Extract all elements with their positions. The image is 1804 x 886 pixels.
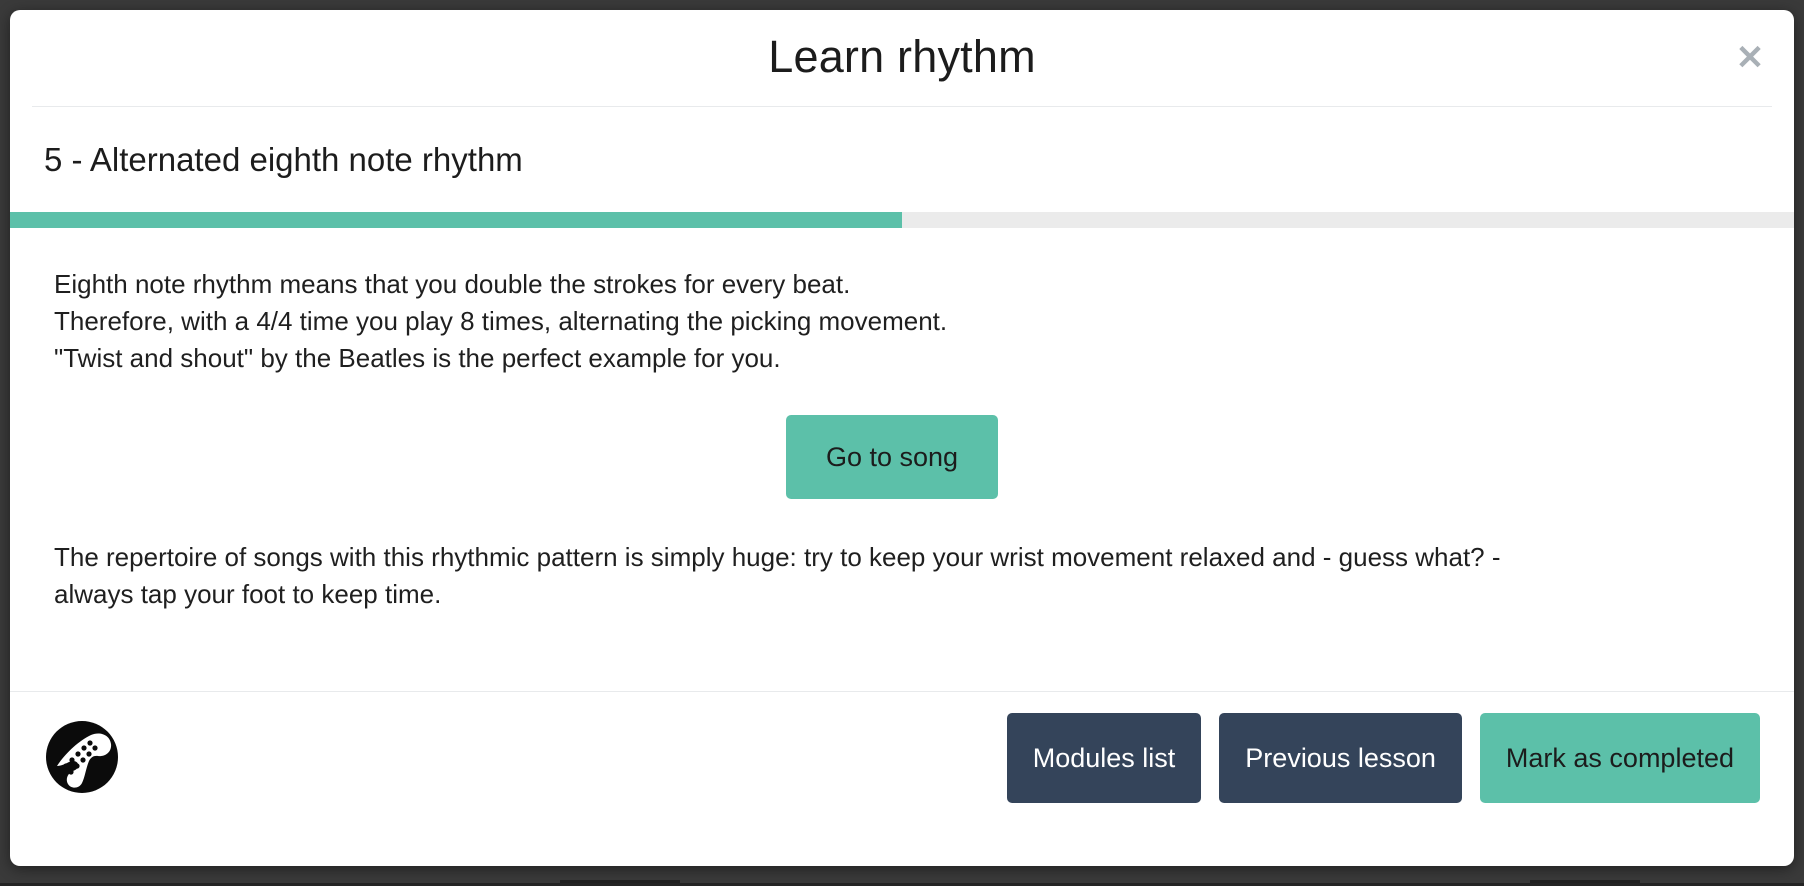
previous-lesson-button[interactable]: Previous lesson <box>1219 713 1462 803</box>
lesson-intro-line-3: "Twist and shout" by the Beatles is the … <box>54 340 1750 377</box>
lesson-outro-line-2: always tap your foot to keep time. <box>54 576 1750 613</box>
footer-actions: Modules list Previous lesson Mark as com… <box>1007 713 1760 803</box>
lesson-outro-text: The repertoire of songs with this rhythm… <box>54 539 1750 613</box>
close-icon[interactable]: ✕ <box>1728 36 1772 80</box>
modal-header: Learn rhythm ✕ <box>10 10 1794 106</box>
lesson-outro-line-1: The repertoire of songs with this rhythm… <box>54 539 1750 576</box>
lesson-title: 5 - Alternated eighth note rhythm <box>44 141 1760 179</box>
lesson-header: 5 - Alternated eighth note rhythm <box>10 107 1794 228</box>
guitar-headstock-logo-icon <box>44 719 120 795</box>
go-to-song-row: Go to song <box>54 415 1750 499</box>
lesson-intro-line-1: Eighth note rhythm means that you double… <box>54 266 1750 303</box>
lesson-intro-text: Eighth note rhythm means that you double… <box>54 266 1750 377</box>
lesson-body: Eighth note rhythm means that you double… <box>10 228 1794 613</box>
lesson-progress-fill <box>10 212 902 228</box>
lesson-modal: Learn rhythm ✕ 5 - Alternated eighth not… <box>10 10 1794 866</box>
lesson-intro-line-2: Therefore, with a 4/4 time you play 8 ti… <box>54 303 1750 340</box>
modules-list-button[interactable]: Modules list <box>1007 713 1202 803</box>
lesson-progress-bar <box>10 212 1794 228</box>
modal-footer: Modules list Previous lesson Mark as com… <box>10 692 1794 866</box>
go-to-song-button[interactable]: Go to song <box>786 415 998 499</box>
page-title: Learn rhythm <box>768 34 1036 83</box>
mark-as-completed-button[interactable]: Mark as completed <box>1480 713 1760 803</box>
